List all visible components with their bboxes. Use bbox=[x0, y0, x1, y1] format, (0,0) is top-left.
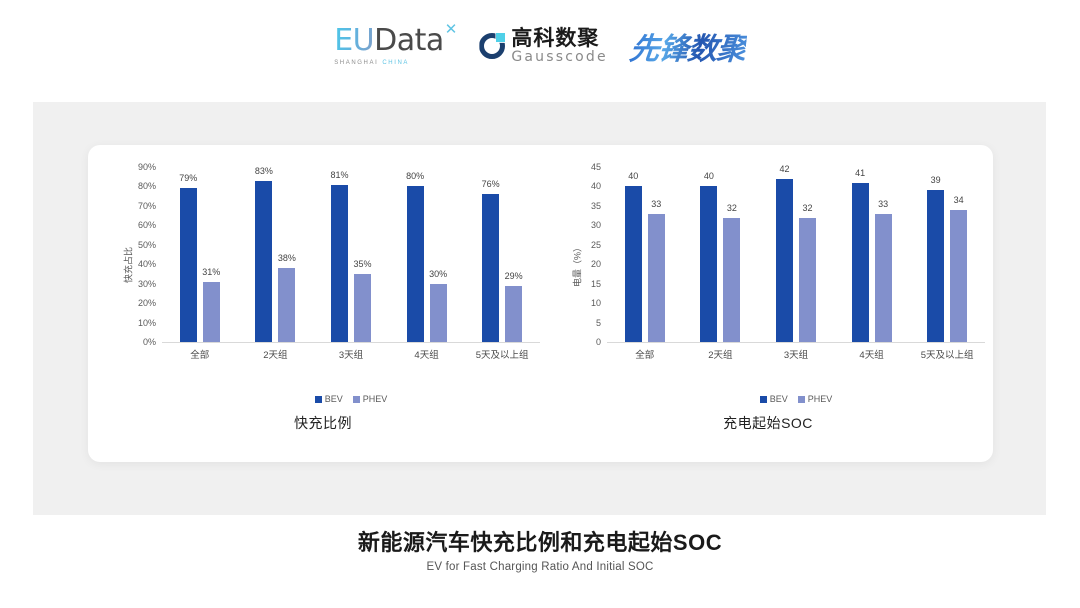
x-axis-labels-right: 全部2天组3天组4天组5天及以上组 bbox=[607, 347, 985, 361]
bar-group: 80%30% bbox=[389, 167, 465, 342]
gausscode-g-mark-icon bbox=[479, 33, 505, 59]
y-tick-label: 5 bbox=[596, 318, 601, 328]
x-tick-label: 3天组 bbox=[758, 347, 834, 361]
bar-phev[interactable]: 30% bbox=[430, 284, 447, 342]
gausscode-en-text: Gausscode bbox=[511, 50, 607, 64]
chart-fast-charging-ratio: 快充占比 0%10%20%30%40%50%60%70%80%90% 79%31… bbox=[98, 145, 548, 462]
y-tick-label: 15 bbox=[591, 279, 601, 289]
evdata-sublabel: SHANGHAI CHINA bbox=[334, 60, 409, 66]
y-tick-label: 50% bbox=[138, 240, 156, 250]
x-tick-label: 4天组 bbox=[389, 347, 465, 361]
bar-bev[interactable]: 41 bbox=[852, 183, 869, 342]
x-tick-label: 5天及以上组 bbox=[464, 347, 540, 361]
y-tick-label: 0% bbox=[143, 337, 156, 347]
bar-value-label: 32 bbox=[727, 203, 737, 213]
bar-bev[interactable]: 40 bbox=[625, 186, 642, 342]
y-axis-ticks-right: 051015202530354045 bbox=[571, 167, 605, 342]
gausscode-logo: 高科数聚 Gausscode bbox=[479, 28, 607, 64]
legend-label: BEV bbox=[770, 394, 788, 404]
x-tick-label: 3天组 bbox=[313, 347, 389, 361]
y-tick-label: 45 bbox=[591, 162, 601, 172]
y-tick-label: 25 bbox=[591, 240, 601, 250]
y-tick-label: 90% bbox=[138, 162, 156, 172]
y-tick-label: 70% bbox=[138, 201, 156, 211]
evdata-ev-text: EU bbox=[334, 26, 374, 56]
bar-value-label: 32 bbox=[802, 203, 812, 213]
bar-bev[interactable]: 40 bbox=[700, 186, 717, 342]
chart-title-right: 充电起始SOC bbox=[543, 413, 993, 433]
y-tick-label: 30 bbox=[591, 220, 601, 230]
bar-value-label: 79% bbox=[179, 173, 197, 183]
evdata-logo: EU Data ✕ SHANGHAI CHINA bbox=[334, 26, 457, 66]
bar-bev[interactable]: 83% bbox=[255, 181, 272, 342]
evdata-sub-shanghai: SHANGHAI bbox=[334, 60, 378, 66]
evdata-data-text: Data bbox=[374, 26, 444, 56]
y-tick-label: 40% bbox=[138, 259, 156, 269]
bar-phev[interactable]: 31% bbox=[203, 282, 220, 342]
x-tick-label: 5天及以上组 bbox=[909, 347, 985, 361]
bar-groups-right: 40334032423241333934 bbox=[607, 167, 985, 342]
bar-value-label: 83% bbox=[255, 166, 273, 176]
evdata-x-icon: ✕ bbox=[445, 22, 458, 37]
bar-group: 4033 bbox=[607, 167, 683, 342]
chart-title-left: 快充比例 bbox=[98, 413, 548, 433]
footer: 新能源汽车快充比例和充电起始SOC EV for Fast Charging R… bbox=[0, 528, 1080, 573]
legend-label: BEV bbox=[325, 394, 343, 404]
legend-swatch bbox=[760, 396, 767, 403]
y-tick-label: 10 bbox=[591, 298, 601, 308]
y-tick-label: 30% bbox=[138, 279, 156, 289]
bar-value-label: 80% bbox=[406, 171, 424, 181]
y-tick-label: 0 bbox=[596, 337, 601, 347]
bar-phev[interactable]: 34 bbox=[950, 210, 967, 342]
bar-value-label: 33 bbox=[651, 199, 661, 209]
bar-bev[interactable]: 76% bbox=[482, 194, 499, 342]
y-tick-label: 35 bbox=[591, 201, 601, 211]
bar-value-label: 42 bbox=[779, 164, 789, 174]
logo-bar: EU Data ✕ SHANGHAI CHINA 高科数聚 Gausscode … bbox=[0, 0, 1080, 92]
plot-area-right: 40334032423241333934 bbox=[607, 167, 985, 343]
bar-value-label: 76% bbox=[482, 179, 500, 189]
x-tick-label: 4天组 bbox=[834, 347, 910, 361]
legend-item-bev[interactable]: BEV bbox=[760, 394, 788, 404]
bar-value-label: 81% bbox=[330, 170, 348, 180]
xianfeng-logo: 先锋数聚 bbox=[627, 24, 748, 68]
plot-wrap-left: 快充占比 0%10%20%30%40%50%60%70%80%90% 79%31… bbox=[98, 159, 548, 371]
gausscode-wordmark: 高科数聚 Gausscode bbox=[511, 28, 607, 64]
legend-swatch bbox=[315, 396, 322, 403]
bar-value-label: 40 bbox=[628, 171, 638, 181]
chart-initial-soc: 电量（%） 051015202530354045 403340324232413… bbox=[543, 145, 993, 462]
bar-group: 76%29% bbox=[464, 167, 540, 342]
bar-bev[interactable]: 80% bbox=[407, 186, 424, 342]
evdata-sub-china: CHINA bbox=[382, 60, 409, 66]
bar-phev[interactable]: 29% bbox=[505, 286, 522, 342]
footer-title-cn: 新能源汽车快充比例和充电起始SOC bbox=[0, 528, 1080, 558]
plot-area-left: 79%31%83%38%81%35%80%30%76%29% bbox=[162, 167, 540, 343]
bar-bev[interactable]: 42 bbox=[776, 179, 793, 342]
gausscode-cn-text: 高科数聚 bbox=[511, 28, 607, 49]
y-tick-label: 80% bbox=[138, 181, 156, 191]
x-tick-label: 全部 bbox=[162, 347, 238, 361]
bar-group: 83%38% bbox=[238, 167, 314, 342]
x-tick-label: 2天组 bbox=[683, 347, 759, 361]
bar-phev[interactable]: 33 bbox=[875, 214, 892, 342]
gausscode-square-shape bbox=[496, 33, 505, 42]
bar-phev[interactable]: 33 bbox=[648, 214, 665, 342]
legend-swatch bbox=[353, 396, 360, 403]
bar-value-label: 29% bbox=[505, 271, 523, 281]
x-axis-labels-left: 全部2天组3天组4天组5天及以上组 bbox=[162, 347, 540, 361]
legend-item-phev[interactable]: PHEV bbox=[353, 394, 388, 404]
legend-label: PHEV bbox=[808, 394, 833, 404]
y-axis-ticks-left: 0%10%20%30%40%50%60%70%80%90% bbox=[126, 167, 160, 342]
legend-label: PHEV bbox=[363, 394, 388, 404]
bar-group: 81%35% bbox=[313, 167, 389, 342]
bar-value-label: 40 bbox=[704, 171, 714, 181]
legend-right: BEVPHEV bbox=[607, 394, 985, 404]
bar-value-label: 34 bbox=[954, 195, 964, 205]
bar-value-label: 30% bbox=[429, 269, 447, 279]
bar-value-label: 35% bbox=[353, 259, 371, 269]
y-tick-label: 40 bbox=[591, 181, 601, 191]
plot-wrap-right: 电量（%） 051015202530354045 403340324232413… bbox=[543, 159, 993, 371]
bar-phev[interactable]: 35% bbox=[354, 274, 371, 342]
bar-group: 4032 bbox=[683, 167, 759, 342]
y-tick-label: 60% bbox=[138, 220, 156, 230]
bar-phev[interactable]: 32 bbox=[723, 218, 740, 342]
bar-groups-left: 79%31%83%38%81%35%80%30%76%29% bbox=[162, 167, 540, 342]
legend-swatch bbox=[798, 396, 805, 403]
bar-group: 4133 bbox=[834, 167, 910, 342]
legend-item-bev[interactable]: BEV bbox=[315, 394, 343, 404]
bar-group: 79%31% bbox=[162, 167, 238, 342]
bar-group: 3934 bbox=[909, 167, 985, 342]
bar-value-label: 38% bbox=[278, 253, 296, 263]
evdata-wordmark: EU Data ✕ bbox=[334, 26, 457, 56]
bar-value-label: 33 bbox=[878, 199, 888, 209]
y-tick-label: 20% bbox=[138, 298, 156, 308]
bar-bev[interactable]: 79% bbox=[180, 188, 197, 342]
x-tick-label: 2天组 bbox=[238, 347, 314, 361]
x-tick-label: 全部 bbox=[607, 347, 683, 361]
bar-phev[interactable]: 38% bbox=[278, 268, 295, 342]
legend-item-phev[interactable]: PHEV bbox=[798, 394, 833, 404]
legend-left: BEVPHEV bbox=[162, 394, 540, 404]
bar-phev[interactable]: 32 bbox=[799, 218, 816, 342]
bar-group: 4232 bbox=[758, 167, 834, 342]
y-tick-label: 10% bbox=[138, 318, 156, 328]
charts-card: 快充占比 0%10%20%30%40%50%60%70%80%90% 79%31… bbox=[88, 145, 993, 462]
bar-bev[interactable]: 39 bbox=[927, 190, 944, 342]
bar-value-label: 39 bbox=[931, 175, 941, 185]
bar-value-label: 41 bbox=[855, 168, 865, 178]
bar-value-label: 31% bbox=[202, 267, 220, 277]
footer-title-en: EV for Fast Charging Ratio And Initial S… bbox=[0, 561, 1080, 573]
bar-bev[interactable]: 81% bbox=[331, 185, 348, 343]
y-tick-label: 20 bbox=[591, 259, 601, 269]
